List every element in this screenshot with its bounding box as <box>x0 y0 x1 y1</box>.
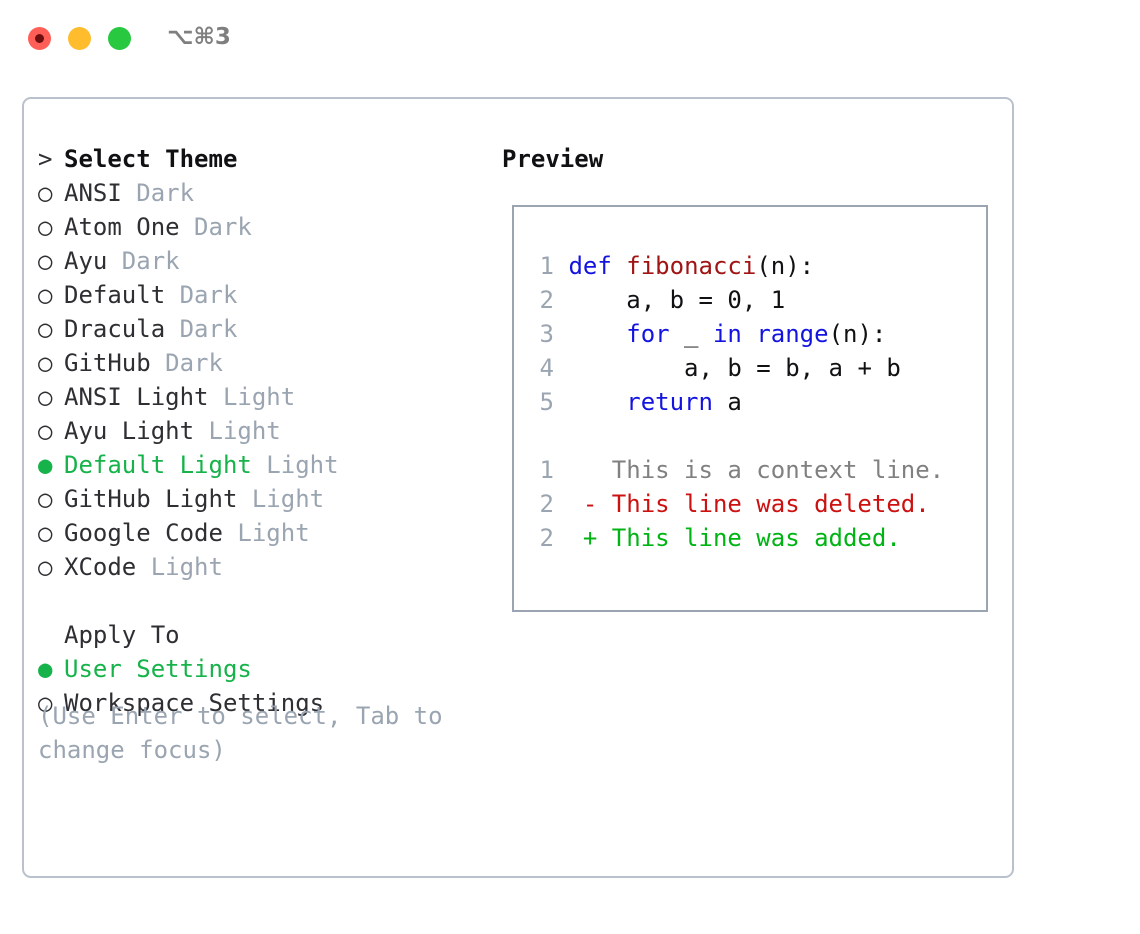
theme-list: >Select Theme○ANSI Dark○Atom One Dark○Ay… <box>38 142 488 584</box>
diff-text: This line was added. <box>612 524 901 552</box>
theme-option-8[interactable]: ●Default Light Light <box>38 448 488 482</box>
radio-empty-icon: ○ <box>38 346 64 380</box>
keyboard-hint-text: (Use Enter to select, Tab to change focu… <box>38 699 458 767</box>
radio-empty-icon: ○ <box>38 278 64 312</box>
row-tag: Dark <box>165 281 237 309</box>
row-label: Select Theme <box>64 145 237 173</box>
code-token: a, b = b, a + b <box>568 354 900 382</box>
code-line: 3 for _ in range(n): <box>528 317 944 351</box>
row-label: GitHub Light <box>64 485 237 513</box>
theme-picker-panel: >Select Theme○ANSI Dark○Atom One Dark○Ay… <box>22 97 1014 878</box>
apply-to-header: Apply To <box>38 618 488 652</box>
row-label: Default Light <box>64 451 252 479</box>
code-token <box>742 320 756 348</box>
theme-option-4[interactable]: ○Dracula Dark <box>38 312 488 346</box>
code-token: (n): <box>756 252 814 280</box>
row-label: Ayu <box>64 247 107 275</box>
preview-box: 1 def fibonacci(n):2 a, b = 0, 13 for _ … <box>512 205 988 612</box>
row-label: Atom One <box>64 213 180 241</box>
radio-selected-icon: ● <box>38 652 64 686</box>
gutter-space <box>554 354 568 382</box>
code-token: _ <box>670 320 713 348</box>
code-token: in <box>713 320 742 348</box>
diff-marker <box>554 456 612 484</box>
theme-option-0[interactable]: ○ANSI Dark <box>38 176 488 210</box>
theme-list-header: >Select Theme <box>38 142 488 176</box>
theme-option-7[interactable]: ○Ayu Light Light <box>38 414 488 448</box>
diff-marker: - <box>554 490 612 518</box>
row-tag: Light <box>209 383 296 411</box>
diff-text: This is a context line. <box>612 456 944 484</box>
row-tag: Light <box>194 417 281 445</box>
diff-text: This line was deleted. <box>612 490 930 518</box>
code-token: (n): <box>829 320 887 348</box>
row-tag: Dark <box>165 315 237 343</box>
row-label: ANSI <box>64 179 122 207</box>
line-number: 1 <box>528 249 554 283</box>
radio-empty-icon: ○ <box>38 414 64 448</box>
theme-option-1[interactable]: ○Atom One Dark <box>38 210 488 244</box>
list-spacer <box>38 584 488 618</box>
line-number: 2 <box>528 521 554 555</box>
theme-option-11[interactable]: ○XCode Light <box>38 550 488 584</box>
preview-title: Preview <box>502 142 1002 176</box>
row-tag: Light <box>136 553 223 581</box>
row-label: Google Code <box>64 519 223 547</box>
row-tag: Light <box>252 451 339 479</box>
caret-right-icon: > <box>38 142 64 176</box>
diff-line: 2 - This line was deleted. <box>528 487 944 521</box>
keyboard-shortcut-label: ⌥⌘3 <box>167 24 231 50</box>
code-token <box>612 252 626 280</box>
radio-empty-icon: ○ <box>38 210 64 244</box>
radio-empty-icon: ○ <box>38 380 64 414</box>
preview-code: 1 def fibonacci(n):2 a, b = 0, 13 for _ … <box>528 249 944 555</box>
code-token <box>568 320 626 348</box>
theme-option-9[interactable]: ○GitHub Light Light <box>38 482 488 516</box>
theme-selection-column: >Select Theme○ANSI Dark○Atom One Dark○Ay… <box>38 142 488 720</box>
radio-empty-icon: ○ <box>38 550 64 584</box>
code-token: a <box>713 388 742 416</box>
maximize-button[interactable] <box>108 27 131 50</box>
radio-empty-icon: ○ <box>38 176 64 210</box>
code-token: range <box>756 320 828 348</box>
code-token <box>568 388 626 416</box>
close-button[interactable] <box>28 27 51 50</box>
theme-option-5[interactable]: ○GitHub Dark <box>38 346 488 380</box>
app-window: ⌥⌘3 >Select Theme○ANSI Dark○Atom One Dar… <box>0 0 1140 934</box>
apply-to-option-0[interactable]: ●User Settings <box>38 652 488 686</box>
line-number: 2 <box>528 283 554 317</box>
code-blank-line <box>528 419 944 453</box>
code-token: a, b = 0, 1 <box>568 286 785 314</box>
line-number: 4 <box>528 351 554 385</box>
gutter-space <box>554 252 568 280</box>
minimize-button[interactable] <box>68 27 91 50</box>
code-line: 2 a, b = 0, 1 <box>528 283 944 317</box>
preview-column: Preview 1 def fibonacci(n):2 a, b = 0, 1… <box>502 142 1002 176</box>
row-tag: Light <box>223 519 310 547</box>
row-tag: Dark <box>180 213 252 241</box>
row-label: GitHub <box>64 349 151 377</box>
radio-selected-icon: ● <box>38 448 64 482</box>
row-label: Dracula <box>64 315 165 343</box>
line-number: 1 <box>528 453 554 487</box>
line-number: 2 <box>528 487 554 521</box>
radio-empty-icon: ○ <box>38 312 64 346</box>
row-label: ANSI Light <box>64 383 209 411</box>
row-label: Default <box>64 281 165 309</box>
diff-line: 2 + This line was added. <box>528 521 944 555</box>
row-label: Ayu Light <box>64 417 194 445</box>
code-line: 5 return a <box>528 385 944 419</box>
code-token: def <box>568 252 611 280</box>
row-tag: Dark <box>107 247 179 275</box>
row-label: Apply To <box>64 621 180 649</box>
diff-marker: + <box>554 524 612 552</box>
row-tag: Dark <box>122 179 194 207</box>
radio-empty-icon: ○ <box>38 244 64 278</box>
code-token: return <box>626 388 713 416</box>
row-tag: Dark <box>151 349 223 377</box>
radio-empty-icon: ○ <box>38 516 64 550</box>
title-bar: ⌥⌘3 <box>0 0 1140 78</box>
gutter-space <box>554 388 568 416</box>
line-number: 5 <box>528 385 554 419</box>
radio-empty-icon <box>38 618 64 652</box>
code-line: 4 a, b = b, a + b <box>528 351 944 385</box>
row-tag: Light <box>237 485 324 513</box>
code-line: 1 def fibonacci(n): <box>528 249 944 283</box>
row-label: XCode <box>64 553 136 581</box>
theme-option-10[interactable]: ○Google Code Light <box>38 516 488 550</box>
theme-option-3[interactable]: ○Default Dark <box>38 278 488 312</box>
line-number: 3 <box>528 317 554 351</box>
diff-line: 1 This is a context line. <box>528 453 944 487</box>
code-token: for <box>626 320 669 348</box>
gutter-space <box>554 320 568 348</box>
code-token: fibonacci <box>626 252 756 280</box>
row-label: User Settings <box>64 655 252 683</box>
theme-option-2[interactable]: ○Ayu Dark <box>38 244 488 278</box>
gutter-space <box>554 286 568 314</box>
radio-empty-icon: ○ <box>38 482 64 516</box>
theme-option-6[interactable]: ○ANSI Light Light <box>38 380 488 414</box>
